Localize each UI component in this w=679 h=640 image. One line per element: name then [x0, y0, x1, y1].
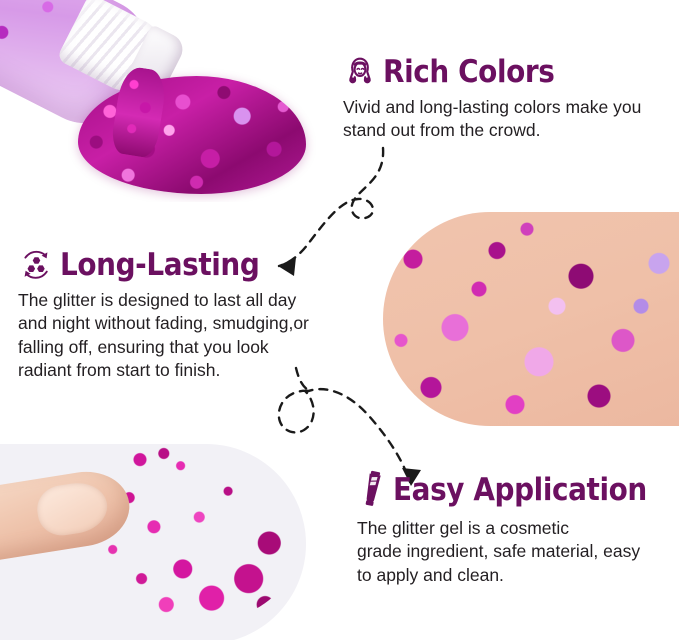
photo-bottle-pouring: [0, 0, 326, 202]
feature-easy-application-body: The glitter gel is a cosmetic grade ingr…: [357, 517, 677, 587]
feature-long-lasting: Long-Lasting The glitter is designed to …: [18, 248, 358, 382]
glitter-particles-cycle-icon: [18, 248, 54, 282]
arrow-to-easy-application-icon: [279, 368, 421, 486]
feature-easy-application: Easy Application The glitter gel is a co…: [357, 470, 677, 587]
photo-glitter-on-skin: [383, 212, 679, 426]
woman-face-icon: [343, 55, 377, 89]
infographic-canvas: Rich Colors Vivid and long-lasting color…: [0, 0, 679, 640]
feature-rich-colors: Rich Colors Vivid and long-lasting color…: [343, 55, 673, 143]
cosmetic-tube-icon: [357, 470, 387, 510]
feature-rich-colors-header: Rich Colors: [343, 55, 673, 89]
feature-long-lasting-body: The glitter is designed to last all day …: [18, 289, 358, 382]
feature-easy-application-title: Easy Application: [393, 475, 647, 506]
feature-long-lasting-title: Long-Lasting: [60, 250, 259, 281]
feature-rich-colors-body: Vivid and long-lasting colors make you s…: [343, 96, 673, 143]
feature-easy-application-header: Easy Application: [357, 470, 677, 510]
fingernail: [34, 479, 111, 539]
photo-finger-applying: [0, 444, 306, 640]
feature-long-lasting-header: Long-Lasting: [18, 248, 358, 282]
glitter-flecks: [126, 446, 196, 480]
feature-rich-colors-title: Rich Colors: [383, 57, 554, 88]
